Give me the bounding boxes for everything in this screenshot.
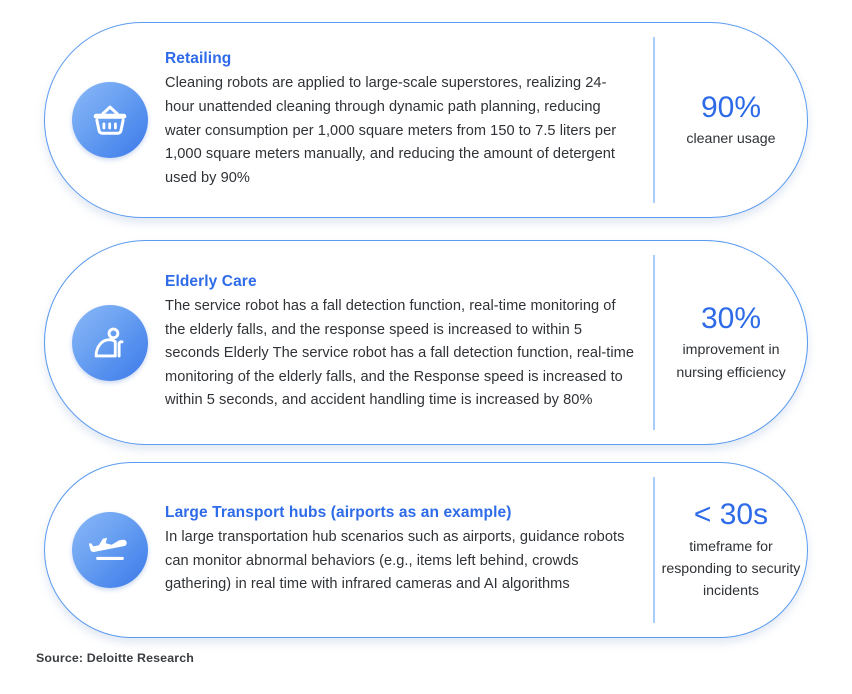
stat-label: improvement in nursing efficiency	[661, 339, 801, 384]
card-description: The service robot has a fall detection f…	[165, 295, 635, 413]
scenario-card-retailing: Retailing Cleaning robots are applied to…	[44, 22, 808, 218]
icon-wrap	[59, 512, 161, 588]
card-description: Cleaning robots are applied to large-sca…	[165, 72, 635, 190]
icon-wrap	[59, 305, 161, 381]
card-body: Large Transport hubs (airports as an exa…	[161, 503, 653, 597]
airplane-departure-icon	[72, 512, 148, 588]
stat-value: 90%	[661, 90, 801, 125]
card-body: Elderly Care The service robot has a fal…	[161, 272, 653, 413]
icon-wrap	[59, 82, 161, 158]
shopping-basket-icon	[72, 82, 148, 158]
card-title: Elderly Care	[165, 272, 635, 293]
elderly-person-with-cane-icon	[72, 305, 148, 381]
card-title: Large Transport hubs (airports as an exa…	[165, 503, 635, 524]
stat-value: 30%	[661, 301, 801, 336]
card-description: In large transportation hub scenarios su…	[165, 526, 635, 597]
scenario-card-transport-hubs: Large Transport hubs (airports as an exa…	[44, 462, 808, 638]
stat-value: < 30s	[661, 497, 801, 532]
stat-label: cleaner usage	[661, 128, 801, 150]
card-body: Retailing Cleaning robots are applied to…	[161, 49, 653, 190]
card-statistic: 90% cleaner usage	[655, 90, 807, 151]
infographic-page: Retailing Cleaning robots are applied to…	[0, 0, 852, 694]
stat-label: timeframe for responding to security inc…	[661, 536, 801, 603]
card-title: Retailing	[165, 49, 635, 70]
card-statistic: < 30s timeframe for responding to securi…	[655, 497, 807, 603]
source-note: Source: Deloitte Research	[36, 651, 194, 665]
scenario-card-elderly-care: Elderly Care The service robot has a fal…	[44, 240, 808, 445]
card-statistic: 30% improvement in nursing efficiency	[655, 301, 807, 384]
